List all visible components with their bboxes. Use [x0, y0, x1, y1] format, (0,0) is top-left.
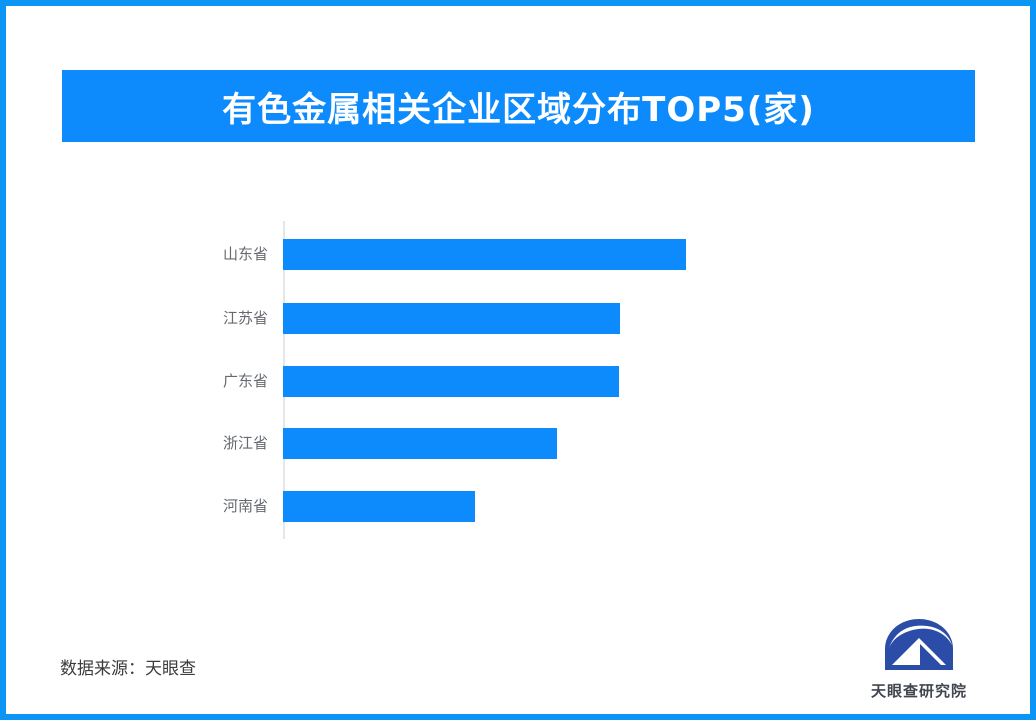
title-banner: 有色金属相关企业区域分布TOP5(家)	[62, 70, 975, 142]
bar-0	[283, 239, 686, 270]
infographic-page: 有色金属相关企业区域分布TOP5(家) 山东省 江苏省 广东省 浙江省 河南省	[0, 0, 1036, 720]
bar-2	[283, 366, 619, 397]
category-label-3: 浙江省	[108, 428, 268, 459]
logo-text: 天眼查研究院	[860, 680, 978, 701]
chart-plot-area: 山东省 江苏省 广东省 浙江省 河南省	[283, 221, 983, 539]
category-label-1: 江苏省	[108, 303, 268, 334]
bar-4	[283, 491, 475, 522]
page-title: 有色金属相关企业区域分布TOP5(家)	[222, 82, 815, 131]
category-label-4: 河南省	[108, 491, 268, 522]
category-label-0: 山东省	[108, 239, 268, 270]
bar-1	[283, 303, 620, 334]
tianyancha-eye-icon	[883, 618, 955, 674]
bar-chart: 山东省 江苏省 广东省 浙江省 河南省	[6, 196, 1030, 556]
category-label-2: 广东省	[108, 366, 268, 397]
source-note: 数据来源：天眼查	[60, 654, 196, 679]
bar-3	[283, 428, 557, 459]
brand-logo: 天眼查研究院	[860, 618, 978, 706]
